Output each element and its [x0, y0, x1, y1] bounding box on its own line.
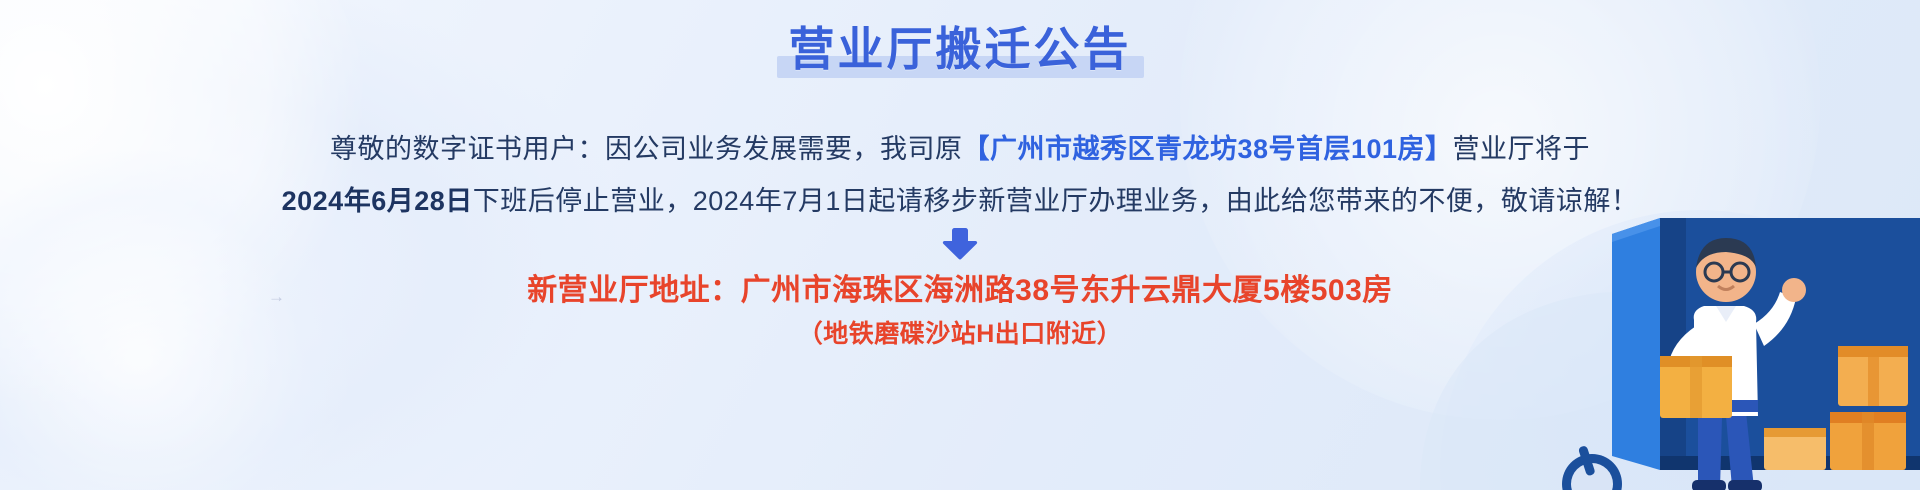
person-shoe-right — [1728, 480, 1762, 490]
carried-box — [1660, 356, 1732, 418]
cargo-box-2-seam — [1868, 346, 1879, 406]
person-hand-right — [1782, 278, 1806, 302]
person-shoe-left — [1692, 480, 1726, 490]
down-arrow-icon — [940, 228, 980, 260]
cargo-box-3-tape — [1764, 428, 1826, 437]
notice-line1-lead: 尊敬的数字证书用户：因公司业务发展需要，我司原 — [330, 134, 963, 164]
closing-date: 2024年6月28日 — [282, 186, 473, 216]
person-leg-left — [1698, 412, 1722, 488]
title-container: 营业厅搬迁公告 — [0, 24, 1920, 76]
truck-open-door — [1612, 218, 1660, 470]
moving-truck-with-delivery-person-illustration — [1360, 160, 1920, 490]
illustration-container — [1360, 160, 1920, 490]
relocation-notice-banner: 营业厅搬迁公告 尊敬的数字证书用户：因公司业务发展需要，我司原【广州市越秀区青龙… — [0, 0, 1920, 490]
cargo-box-1-seam — [1862, 412, 1874, 470]
notice-paragraph-line-1: 尊敬的数字证书用户：因公司业务发展需要，我司原【广州市越秀区青龙坊38号首层10… — [0, 136, 1920, 163]
title-text: 营业厅搬迁公告 — [789, 23, 1132, 75]
page-title: 营业厅搬迁公告 — [783, 24, 1138, 76]
